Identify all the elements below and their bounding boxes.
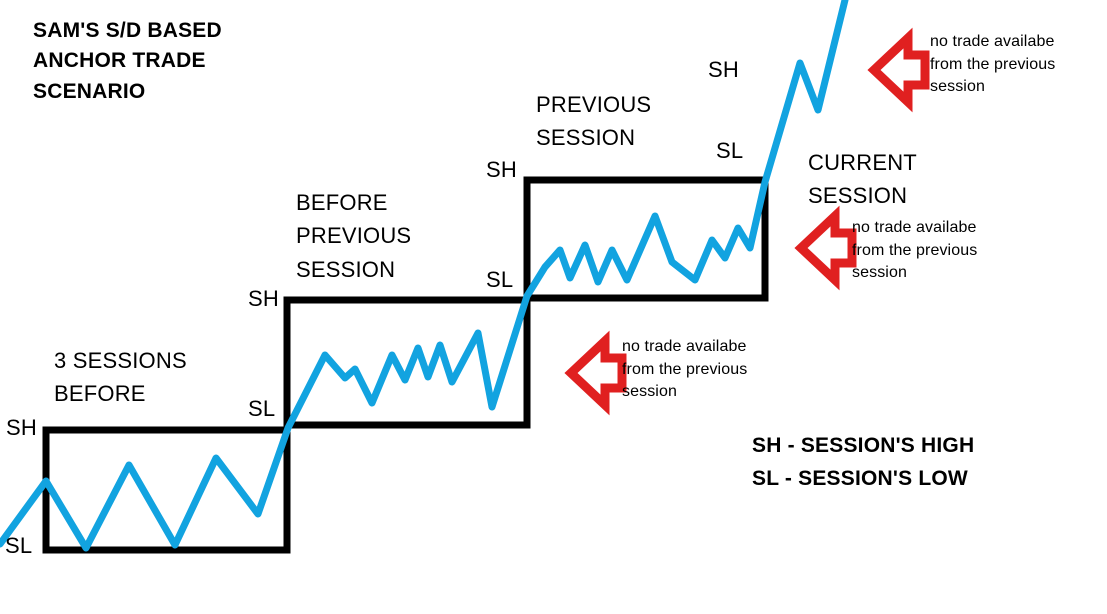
annotation-text-2: no trade availabe from the previous sess… (852, 217, 977, 285)
session-high-label-3: SH (486, 157, 517, 183)
session-label-3-sessions-before: 3 SESSIONS BEFORE (54, 344, 187, 411)
session-label-previous-session: PREVIOUS SESSION (536, 88, 651, 155)
annotation-text-1: no trade availabe from the previous sess… (930, 31, 1055, 99)
session-high-label-1: SH (6, 415, 37, 441)
session-low-label-4: SL (716, 138, 743, 164)
annotation-text-3: no trade availabe from the previous sess… (622, 336, 747, 404)
session-label-before-previous-session: BEFORE PREVIOUS SESSION (296, 186, 411, 286)
session-high-label-2: SH (248, 286, 279, 312)
session-label-current-session: CURRENT SESSION (808, 146, 917, 213)
left-arrow-icon-note-3 (571, 341, 622, 405)
session-low-label-2: SL (248, 396, 275, 422)
session-low-label-3: SL (486, 267, 513, 293)
session-high-label-4: SH (708, 57, 739, 83)
left-arrow-icon-note-2 (801, 216, 852, 280)
trading-scenario-diagram: SAM'S S/D BASED ANCHOR TRADE SCENARIO 3 … (0, 0, 1107, 614)
page-title: SAM'S S/D BASED ANCHOR TRADE SCENARIO (33, 16, 222, 107)
left-arrow-icon-note-1 (874, 38, 925, 102)
session-low-label-1: SL (5, 533, 32, 559)
legend: SH - SESSION'S HIGH SL - SESSION'S LOW (752, 430, 974, 495)
